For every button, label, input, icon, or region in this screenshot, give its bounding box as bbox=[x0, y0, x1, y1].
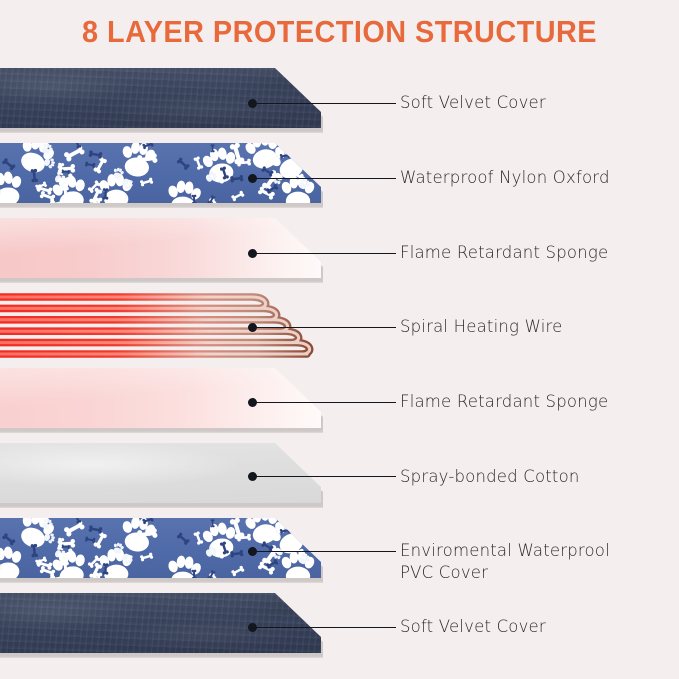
sponge-texture bbox=[0, 368, 333, 430]
callout-line-7 bbox=[252, 551, 396, 552]
slab-surface bbox=[0, 68, 333, 130]
slab-surface bbox=[0, 218, 333, 280]
page-title: 8 LAYER PROTECTION STRUCTURE bbox=[24, 14, 655, 50]
paw-print-texture bbox=[0, 143, 333, 205]
layer-8-velvet[interactable] bbox=[0, 593, 679, 665]
slab-surface bbox=[0, 368, 333, 430]
callout-line-8 bbox=[252, 627, 396, 628]
layer-slab bbox=[0, 443, 333, 505]
layer-diagram-canvas: 8 LAYER PROTECTION STRUCTURE Soft Velvet… bbox=[0, 0, 679, 679]
layer-label-7: Enviromental Waterprool PVC Cover bbox=[400, 540, 610, 585]
layer-label-1: Soft Velvet Cover bbox=[400, 92, 546, 114]
callout-line-4 bbox=[252, 327, 396, 328]
velvet-texture bbox=[0, 68, 333, 130]
slab-surface bbox=[0, 518, 333, 580]
layer-label-8: Soft Velvet Cover bbox=[400, 616, 546, 638]
callout-line-5 bbox=[252, 402, 396, 403]
layer-slab bbox=[0, 143, 333, 205]
layer-slab bbox=[0, 218, 333, 280]
layer-1-velvet[interactable] bbox=[0, 68, 679, 140]
callout-line-3 bbox=[252, 253, 396, 254]
layer-slab bbox=[0, 368, 333, 430]
layer-label-6: Spray-bonded Cotton bbox=[400, 466, 580, 488]
layer-4-wire[interactable] bbox=[0, 293, 679, 365]
layer-slab bbox=[0, 518, 333, 580]
layer-label-5: Flame Retardant Sponge bbox=[400, 391, 608, 413]
layer-label-3: Flame Retardant Sponge bbox=[400, 242, 608, 264]
callout-line-2 bbox=[252, 178, 396, 179]
heating-wire-graphic bbox=[0, 289, 333, 367]
layer-slab bbox=[0, 68, 333, 130]
paw-print-texture bbox=[0, 518, 333, 580]
layer-label-2: Waterproof Nylon Oxford bbox=[400, 167, 610, 189]
callout-line-1 bbox=[252, 103, 396, 104]
cotton-texture bbox=[0, 443, 333, 505]
slab-surface bbox=[0, 443, 333, 505]
callout-line-6 bbox=[252, 476, 396, 477]
slab-surface bbox=[0, 593, 333, 655]
layer-slab bbox=[0, 593, 333, 655]
slab-surface bbox=[0, 143, 333, 205]
layer-label-4: Spiral Heating Wire bbox=[400, 316, 563, 338]
sponge-texture bbox=[0, 218, 333, 280]
velvet-texture bbox=[0, 593, 333, 655]
